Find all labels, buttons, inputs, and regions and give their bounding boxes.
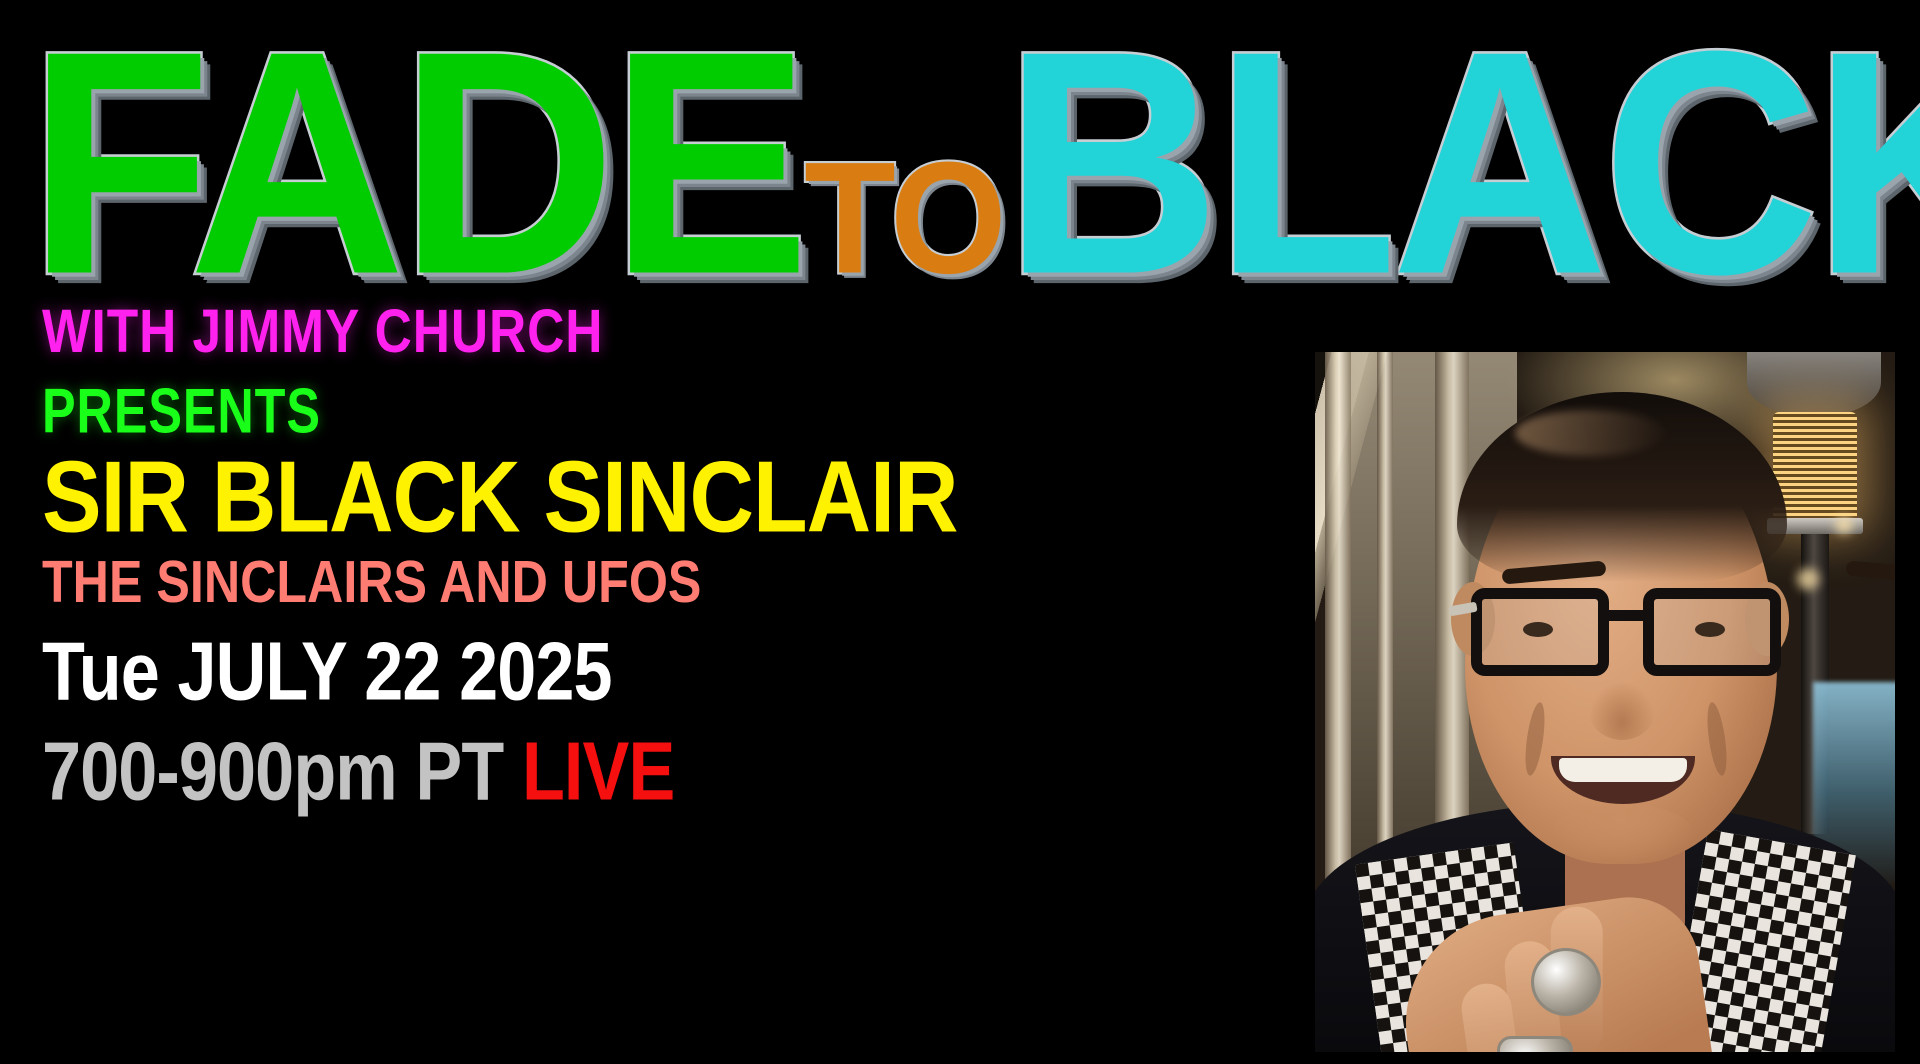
bokeh-light [1797,568,1819,590]
presents-line: PRESENTS [42,376,1185,445]
event-time-text: 700-900pm PT [42,724,503,817]
host-line: WITH JIMMY CHURCH [42,297,1210,365]
event-details: WITH JIMMY CHURCH PRESENTS SIR BLACK SIN… [42,300,1312,814]
subject-teeth [1559,758,1687,782]
guest-name: SIR BLACK SINCLAIR [42,444,1249,550]
hair-highlight [1515,410,1665,456]
signet-ring [1531,948,1601,1016]
event-date: Tue JULY 22 2025 [42,625,1185,716]
title-word-black: BLACK [1004,0,1920,340]
title-word-fade: FADE [28,0,804,340]
patio-heater-element [1773,412,1857,522]
title-word-to: TO [804,128,1004,306]
live-badge: LIVE [522,724,674,817]
guest-photo [1315,352,1895,1052]
subject-chin [1551,804,1693,860]
bokeh-light [1835,516,1853,534]
subject-eye [1523,622,1553,637]
eyeglass-bridge [1607,610,1647,621]
silver-ring [1497,1036,1573,1052]
eyeglasses-icon [1467,588,1785,680]
subject-eye [1695,622,1725,637]
poster-canvas: FADETOBLACK WITH JIMMY CHURCH PRESENTS S… [0,0,1920,1064]
event-time: 700-900pm PT LIVE [42,725,1185,816]
subject-nose [1589,682,1655,740]
episode-topic: THE SINCLAIRS AND UFOS [42,549,1223,615]
